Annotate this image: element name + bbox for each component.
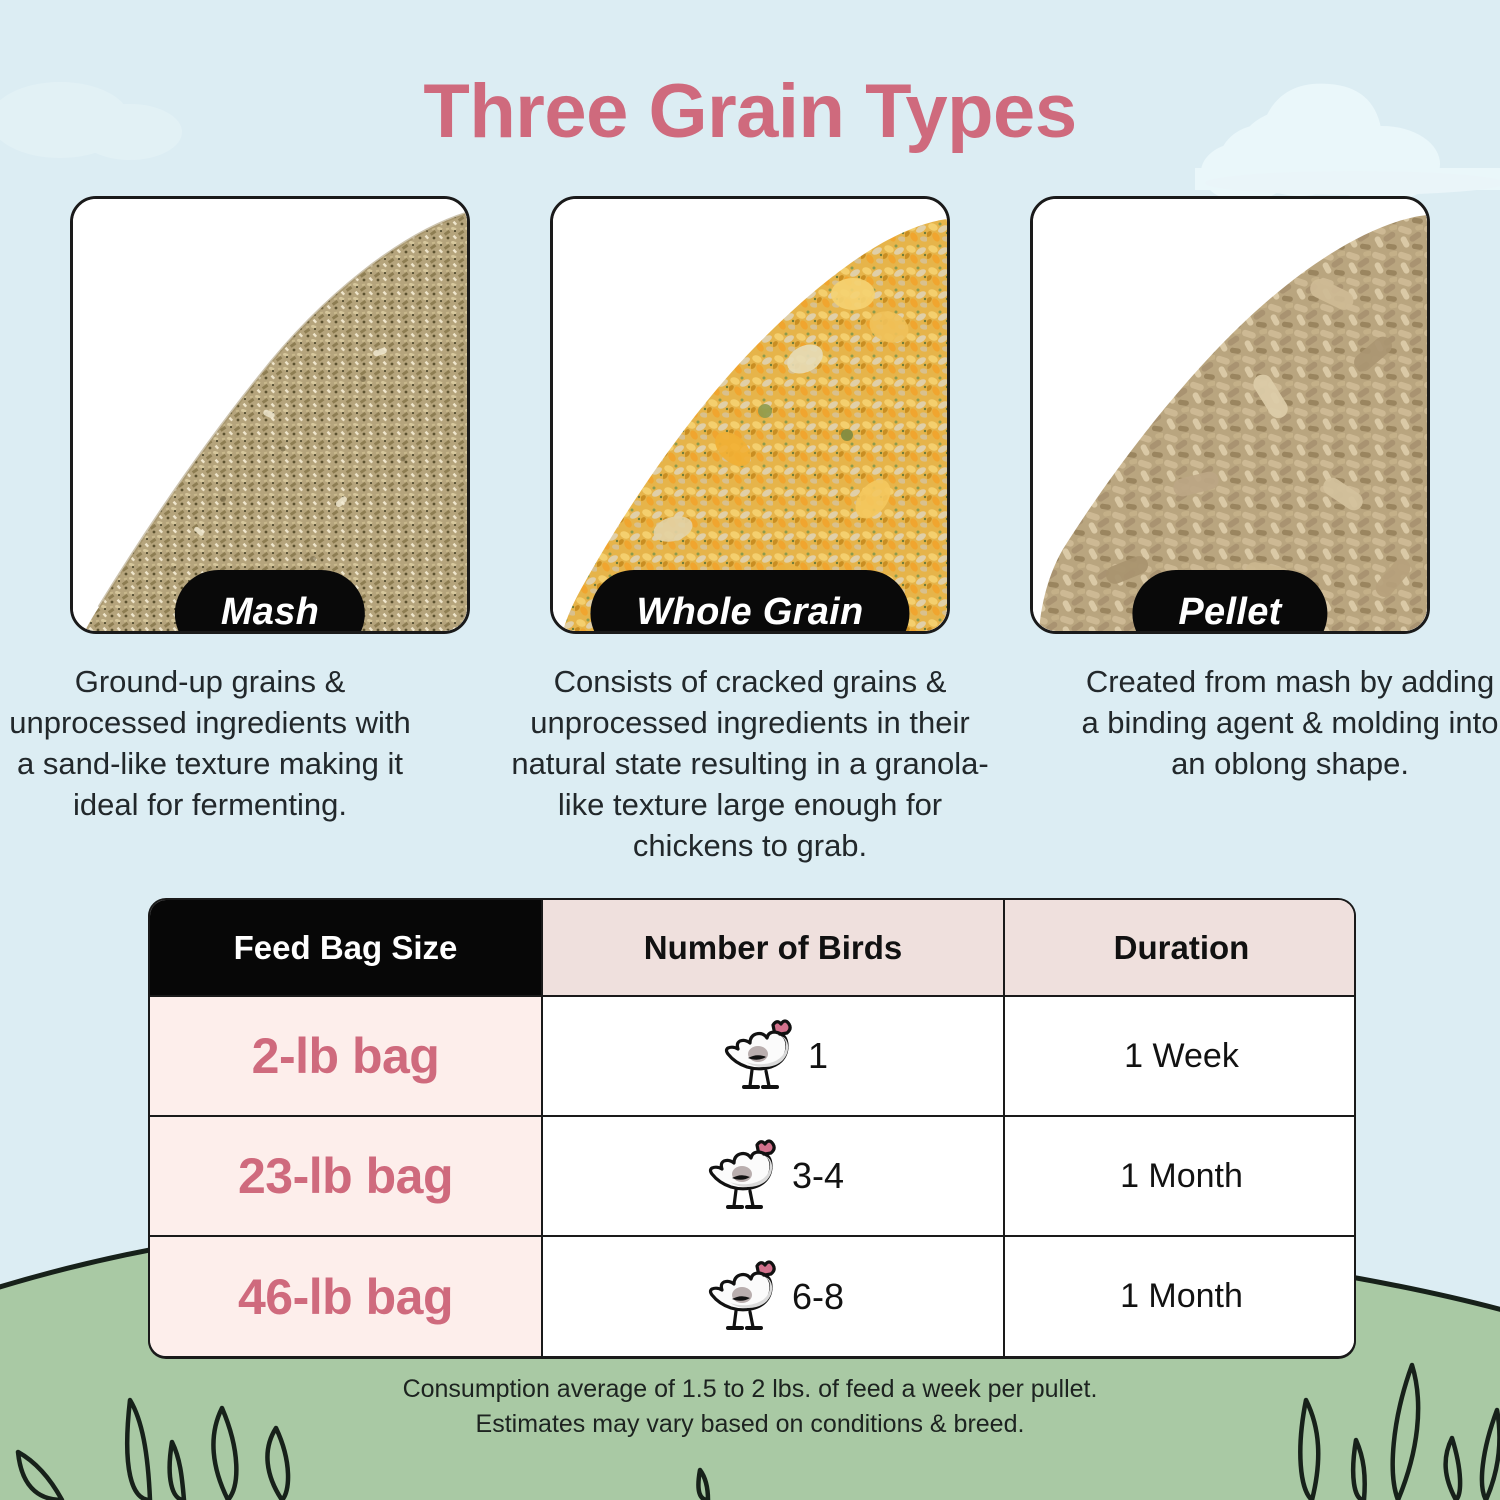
cell-number-of-birds: 1 <box>542 996 1004 1116</box>
grain-description-whole-grain: Consists of cracked grains & unprocessed… <box>500 662 1000 867</box>
pellet-pile-photo <box>1033 199 1427 631</box>
table-row: 23-lb bag <box>150 1116 1356 1236</box>
grain-card-whole-grain[interactable]: Whole Grain <box>550 196 950 634</box>
chicken-icon <box>718 1014 794 1098</box>
bird-count: 1 <box>808 1035 828 1077</box>
grain-card-label-whole-grain: Whole Grain <box>590 570 909 634</box>
whole-grain-pile-photo <box>553 199 947 631</box>
cell-bag-size: 23-lb bag <box>150 1116 542 1236</box>
grain-description-row: Ground-up grains & unprocessed ingredien… <box>0 662 1500 867</box>
table-header-duration: Duration <box>1004 900 1356 996</box>
grass-blades-mid <box>698 1470 708 1500</box>
grain-description-pellet: Created from mash by adding a binding ag… <box>1080 662 1500 867</box>
bird-count: 3-4 <box>792 1155 844 1197</box>
grain-card-label-mash: Mash <box>175 570 365 634</box>
grain-card-mash[interactable]: Mash <box>70 196 470 634</box>
footnote-line-2: Estimates may vary based on conditions &… <box>0 1407 1500 1442</box>
grain-description-mash: Ground-up grains & unprocessed ingredien… <box>0 662 420 867</box>
bird-count: 6-8 <box>792 1276 844 1318</box>
page-title: Three Grain Types <box>0 72 1500 152</box>
feed-bag-table: Feed Bag Size Number of Birds Duration 2… <box>148 898 1356 1358</box>
cell-duration: 1 Month <box>1004 1236 1356 1356</box>
cell-bag-size: 46-lb bag <box>150 1236 542 1356</box>
cell-number-of-birds: 6-8 <box>542 1236 1004 1356</box>
table-header-feed-bag-size: Feed Bag Size <box>150 900 542 996</box>
table-row: 2-lb bag <box>150 996 1356 1116</box>
table-row: 46-lb bag <box>150 1236 1356 1356</box>
cell-number-of-birds: 3-4 <box>542 1116 1004 1236</box>
infographic-stage: Three Grain Types <box>0 0 1500 1500</box>
grain-card-label-pellet: Pellet <box>1132 570 1327 634</box>
mash-pile-photo <box>73 199 467 631</box>
table-header-number-of-birds: Number of Birds <box>542 900 1004 996</box>
table-header-row: Feed Bag Size Number of Birds Duration <box>150 900 1356 996</box>
chicken-icon <box>702 1255 778 1339</box>
grain-card-pellet[interactable]: Pellet <box>1030 196 1430 634</box>
cell-bag-size: 2-lb bag <box>150 996 542 1116</box>
chicken-icon <box>702 1134 778 1218</box>
cell-duration: 1 Week <box>1004 996 1356 1116</box>
footnote: Consumption average of 1.5 to 2 lbs. of … <box>0 1372 1500 1441</box>
footnote-line-1: Consumption average of 1.5 to 2 lbs. of … <box>0 1372 1500 1407</box>
cell-duration: 1 Month <box>1004 1116 1356 1236</box>
grain-card-row: Mash <box>0 196 1500 636</box>
